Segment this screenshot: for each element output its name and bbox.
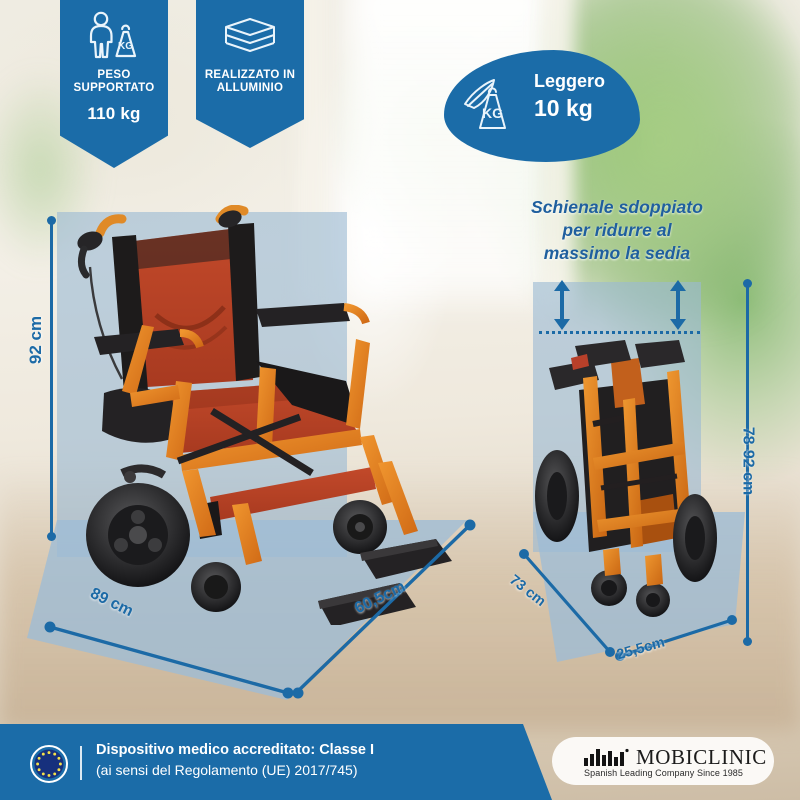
arrow-up-down-left-icon bbox=[552, 278, 572, 332]
feather-with-weight-icon: KG bbox=[462, 76, 522, 134]
dimension-label-main-height: 92 cm bbox=[26, 316, 46, 364]
infographic-canvas: KG PESO SUPPORTATO 110 kg REALIZZATO IN … bbox=[0, 0, 800, 800]
feature-label-material-line1: REALIZZATO IN bbox=[196, 69, 304, 82]
badge-lightweight: KG Leggero 10 kg bbox=[444, 50, 640, 162]
dimension-endpoint-main-height-top bbox=[47, 216, 56, 225]
footer-bar: Dispositivo medico accreditato: Classe I… bbox=[0, 724, 800, 800]
eu-flag-icon bbox=[30, 745, 68, 783]
footer-text-line2: (ai sensi del Regolamento (UE) 2017/745) bbox=[96, 760, 374, 780]
brand-logo: MOBICLINIC Spanish Leading Company Since… bbox=[552, 737, 774, 785]
headline-backrest: Schienale sdoppiato per ridurre al massi… bbox=[500, 196, 734, 265]
logo-bars-icon bbox=[584, 748, 630, 766]
feature-value-weight: 110 kg bbox=[60, 104, 168, 124]
feature-label-weight-line1: PESO bbox=[60, 69, 168, 82]
logo-wordmark: MOBICLINIC bbox=[636, 745, 767, 770]
headline-line-2: per ridurre al bbox=[500, 219, 734, 242]
footer-certification-text: Dispositivo medico accreditato: Classe I… bbox=[96, 740, 374, 780]
dotted-guide-line bbox=[539, 331, 700, 334]
stacked-sheets-icon bbox=[222, 0, 278, 60]
headline-line-1: Schienale sdoppiato bbox=[500, 196, 734, 219]
feature-badge-weight-capacity: KG PESO SUPPORTATO 110 kg bbox=[60, 0, 168, 168]
feature-badge-material: REALIZZATO IN ALLUMINIO bbox=[196, 0, 304, 148]
dimension-endpoint-folded-height-top bbox=[743, 279, 752, 288]
dimension-label-folded-height: 78-92 cm bbox=[738, 427, 756, 496]
footer-divider bbox=[80, 746, 82, 780]
svg-text:KG: KG bbox=[482, 105, 503, 121]
svg-text:KG: KG bbox=[118, 41, 133, 52]
arrow-up-down-right-icon bbox=[668, 278, 688, 332]
footer-text-line1: Dispositivo medico accreditato: Classe I bbox=[96, 740, 374, 760]
dimension-lines-main-base bbox=[10, 515, 490, 715]
badge-title: Leggero bbox=[534, 70, 634, 92]
badge-value: 10 kg bbox=[534, 94, 634, 122]
feature-label-weight-line2: SUPPORTATO bbox=[60, 82, 168, 95]
badge-text-group: Leggero 10 kg bbox=[534, 70, 634, 122]
feature-label-material-line2: ALLUMINIO bbox=[196, 82, 304, 95]
person-with-weight-icon: KG bbox=[85, 0, 143, 60]
headline-line-3: massimo la sedia bbox=[500, 242, 734, 265]
dimension-line-main-height bbox=[50, 222, 53, 537]
logo-tagline: Spanish Leading Company Since 1985 bbox=[584, 768, 743, 778]
